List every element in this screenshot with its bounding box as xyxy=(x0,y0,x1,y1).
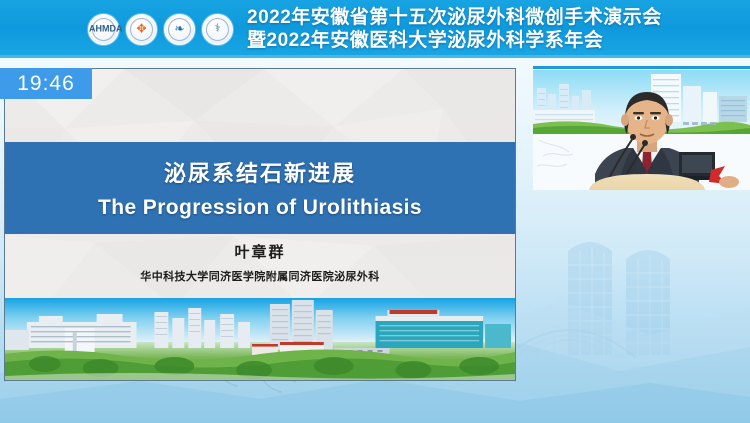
slide-title-english: The Progression of Urolithiasis xyxy=(98,196,422,220)
event-title-line-1: 2022年安徽省第十五次泌尿外科微创手术演示会 xyxy=(247,6,662,29)
session-timer-value: 19:46 xyxy=(17,72,75,96)
event-title-block: 2022年安徽省第十五次泌尿外科微创手术演示会 暨2022年安徽医科大学泌尿外科… xyxy=(247,6,662,52)
university-emblem-logo: ⚕ xyxy=(202,14,233,45)
organization-logos: AHMDA ✥ ❧ ⚕ xyxy=(88,14,233,45)
anhui-medical-doctor-association-logo: AHMDA xyxy=(88,14,119,45)
hospital-campus-panorama xyxy=(5,298,515,380)
presentation-slide[interactable]: 泌尿系结石新进展 The Progression of Urolithiasis… xyxy=(4,68,516,381)
logo-mark-2: ✥ xyxy=(127,25,156,34)
event-header-banner: AHMDA ✥ ❧ ⚕ 2022年安徽省第十五次泌尿外科微创手术演示会 暨202… xyxy=(0,0,750,58)
speaker-video-feed[interactable] xyxy=(533,66,750,190)
broadcast-stage: AHMDA ✥ ❧ ⚕ 2022年安徽省第十五次泌尿外科微创手术演示会 暨202… xyxy=(0,0,750,423)
kidney-emblem-logo: ❧ xyxy=(164,14,195,45)
event-title-line-2: 暨2022年安徽医科大学泌尿外科学系年会 xyxy=(247,29,662,52)
presenter-name: 叶章群 xyxy=(5,241,515,262)
logo-mark-1: AHMDA xyxy=(89,25,118,34)
logo-mark-4: ⚕ xyxy=(203,25,232,34)
slide-title-band: 泌尿系结石新进展 The Progression of Urolithiasis xyxy=(5,142,515,234)
orange-emblem-logo: ✥ xyxy=(126,14,157,45)
slide-title-chinese: 泌尿系结石新进展 xyxy=(164,156,356,188)
session-timer-badge: 19:46 xyxy=(0,68,92,99)
slide-presenter-block: 叶章群 华中科技大学同济医学院附属同济医院泌尿外科 xyxy=(5,241,515,284)
logo-mark-3: ❧ xyxy=(165,25,194,34)
presenter-affiliation: 华中科技大学同济医学院附属同济医院泌尿外科 xyxy=(5,268,515,284)
